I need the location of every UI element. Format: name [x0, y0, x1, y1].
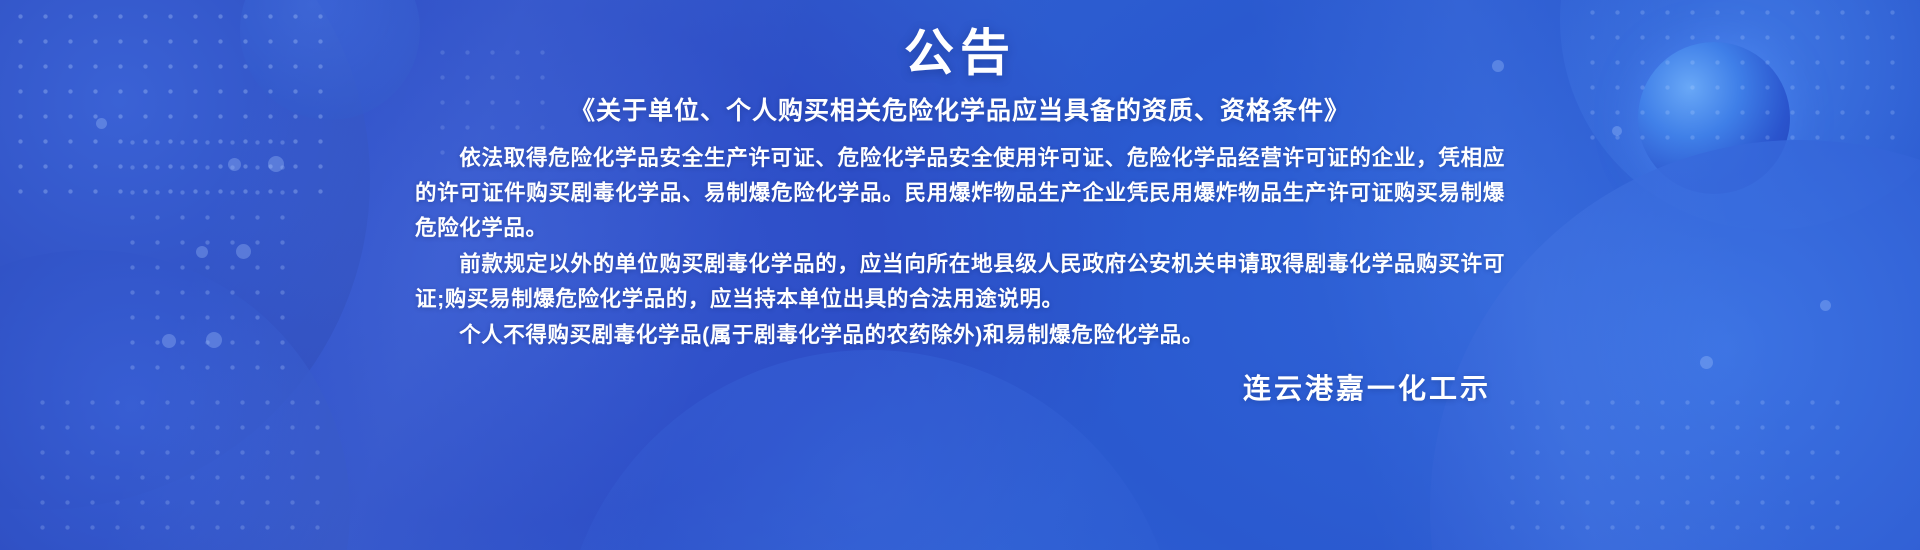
- paragraph-text: 依法取得危险化学品安全生产许可证、危险化学品安全使用许可证、危险化学品经营许可证…: [415, 146, 1505, 240]
- announcement-paragraph: 个人不得购买剧毒化学品(属于剧毒化学品的农药除外)和易制爆危险化学品。: [415, 318, 1505, 353]
- paragraph-text: 个人不得购买剧毒化学品(属于剧毒化学品的农药除外)和易制爆危险化学品。: [459, 323, 1204, 347]
- announcement-banner: 公告 《关于单位、个人购买相关危险化学品应当具备的资质、资格条件》 依法取得危险…: [0, 0, 1920, 550]
- page-subtitle: 《关于单位、个人购买相关危险化学品应当具备的资质、资格条件》: [570, 91, 1350, 127]
- paragraph-text: 前款规定以外的单位购买剧毒化学品的，应当向所在地县级人民政府公安机关申请取得剧毒…: [415, 252, 1505, 311]
- banner-content: 公告 《关于单位、个人购买相关危险化学品应当具备的资质、资格条件》 依法取得危险…: [0, 0, 1920, 550]
- announcement-paragraph: 依法取得危险化学品安全生产许可证、危险化学品安全使用许可证、危险化学品经营许可证…: [415, 141, 1505, 246]
- page-title: 公告: [904, 26, 1016, 81]
- announcement-paragraph: 前款规定以外的单位购买剧毒化学品的，应当向所在地县级人民政府公安机关申请取得剧毒…: [415, 247, 1505, 317]
- announcement-body: 依法取得危险化学品安全生产许可证、危险化学品安全使用许可证、危险化学品经营许可证…: [415, 141, 1505, 353]
- signature-text: 连云港嘉一化工示: [415, 367, 1505, 407]
